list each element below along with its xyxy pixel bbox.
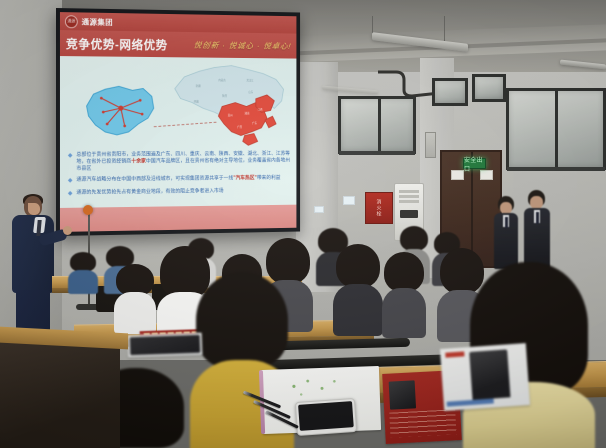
door-notice-left	[451, 170, 464, 180]
flyer-suit-ad[interactable]	[440, 343, 530, 411]
presenter-face	[28, 203, 40, 215]
company-name-label: 通源集团	[82, 16, 113, 27]
svg-text:西藏: 西藏	[194, 100, 199, 104]
svg-text:内蒙古: 内蒙古	[218, 78, 226, 82]
phone-screen	[298, 401, 354, 431]
fire-hydrant-cabinet: 消火栓	[365, 192, 393, 224]
presenter-hand	[63, 226, 72, 235]
svg-text:新疆: 新疆	[196, 84, 201, 88]
slide-bullet-list: ◆ 总部位于贵州省贵阳市，业务范围遍及广东、四川、重庆、云南、陕西、安徽、湖北、…	[68, 151, 291, 203]
svg-text:山东: 山东	[248, 90, 253, 94]
transom-window-right	[472, 74, 506, 102]
staff-member-left	[494, 196, 518, 270]
bullet-dot-icon: ◆	[68, 177, 73, 185]
fire-cabinet-label: 消火栓	[376, 199, 383, 217]
flyer-tag	[445, 351, 464, 357]
seminar-room-photo: 安全出口 消火栓 通源 通源集团 竞争优势-网络优势 悦创新 · 悦诚心	[0, 0, 606, 448]
bullet-text: 通源汽车战略分布在中国中西部及沿线城市，可实现集团资源共享于一线"汽车热区"带来…	[76, 175, 280, 185]
svg-text:黑龙江: 黑龙江	[246, 78, 254, 82]
flyer-bar	[447, 398, 494, 407]
audience-member	[336, 244, 380, 332]
slide-body: 新疆内蒙古 黑龙江西藏 陕西山东 贵州湖南 江西广西 广东	[60, 56, 296, 208]
slide-bullet-item: ◆ 总部位于贵州省贵阳市，业务范围遍及广东、四川、重庆、云南、陕西、安徽、湖北、…	[68, 151, 291, 172]
screen-surface: 通源 通源集团 竞争优势-网络优势 悦创新 · 悦诚心 · 悦卓心!	[60, 12, 296, 232]
bullet-dot-icon: ◆	[68, 152, 73, 172]
smartphone[interactable]	[295, 398, 357, 436]
wall-notice	[343, 196, 355, 205]
slide-slogan: 悦创新 · 悦诚心 · 悦卓心!	[193, 39, 292, 51]
svg-text:广西: 广西	[237, 125, 242, 129]
svg-text:江西: 江西	[258, 107, 263, 111]
svg-text:广东: 广东	[252, 121, 257, 125]
flyer-suit-photo	[469, 349, 510, 400]
transom-window-left	[432, 78, 468, 106]
window-right	[506, 88, 606, 170]
wall-notice	[314, 206, 324, 213]
microphone-icon	[83, 205, 93, 215]
foreground-desk-shadow	[0, 334, 120, 448]
slide-bullet-item: ◆ 通源的先发优势抢先占有黄金商业地段，有效的阻止竞争者进入市场	[68, 188, 291, 199]
svg-text:陕西: 陕西	[222, 94, 227, 98]
province-map-icon	[82, 80, 158, 140]
projection-screen[interactable]: 通源 通源集团 竞争优势-网络优势 悦创新 · 悦诚心 · 悦卓心!	[56, 8, 300, 236]
slide-bullet-item: ◆ 通源汽车战略分布在中国中西部及沿线城市，可实现集团资源共享于一线"汽车热区"…	[68, 175, 291, 185]
staff-member-right	[524, 190, 550, 270]
wall-control-box[interactable]	[425, 132, 436, 158]
svg-text:湖南: 湖南	[245, 111, 250, 115]
bullet-text: 通源的先发优势抢先占有黄金商业地段，有效的阻止竞争者进入市场	[76, 188, 223, 198]
slide-title-band: 竞争优势-网络优势 悦创新 · 悦诚心 · 悦卓心!	[60, 30, 296, 59]
audience-member	[384, 252, 424, 334]
exit-sign-label: 安全出口	[464, 155, 485, 173]
flyer-left[interactable]	[128, 333, 203, 358]
slide-title: 竞争优势-网络优势	[66, 35, 168, 53]
brochure-photo	[389, 381, 416, 410]
presentation-slide: 通源 通源集团 竞争优势-网络优势 悦创新 · 悦诚心 · 悦卓心!	[60, 12, 296, 232]
slide-map-area: 新疆内蒙古 黑龙江西藏 陕西山东 贵州湖南 江西广西 广东	[60, 56, 296, 148]
bullet-dot-icon: ◆	[68, 190, 73, 198]
logo-mark-text: 通源	[67, 19, 75, 23]
svg-text:贵州: 贵州	[228, 113, 233, 117]
slide-footer-band	[60, 205, 296, 232]
audience-member	[116, 264, 154, 330]
emergency-exit-sign: 安全出口	[463, 158, 486, 169]
china-map-icon: 新疆内蒙古 黑龙江西藏 陕西山东 贵州湖南 江西广西 广东	[165, 59, 293, 149]
audience-member	[70, 252, 96, 292]
bullet-text: 总部位于贵州省贵阳市，业务范围遍及广东、四川、重庆、云南、陕西、安徽、湖北、浙江…	[76, 151, 290, 172]
company-logo-icon: 通源	[65, 15, 78, 28]
